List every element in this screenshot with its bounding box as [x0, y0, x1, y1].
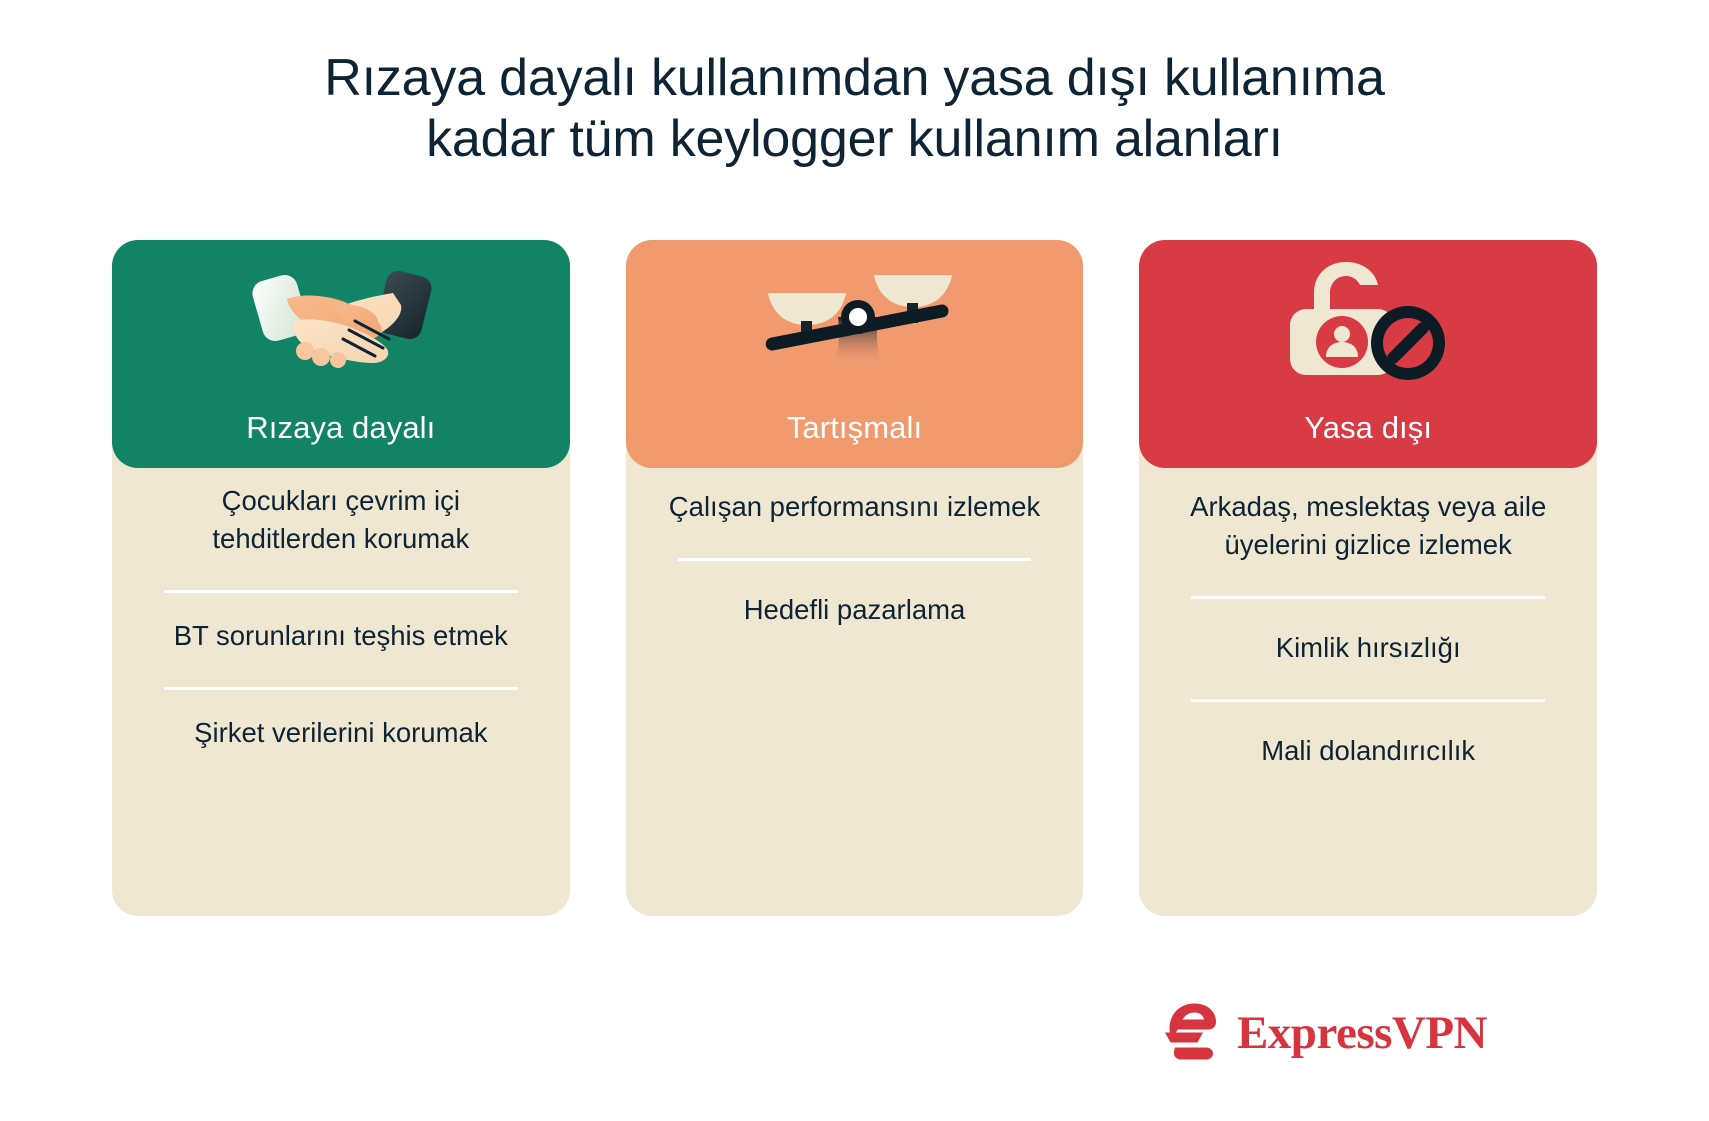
card-consensual-label: Rızaya dayalı: [246, 410, 435, 468]
list-item: BT sorunlarını teşhis etmek: [146, 607, 536, 673]
list-item: Arkadaş, meslektaş veya aile üyelerini g…: [1173, 472, 1563, 582]
card-row: Çocukları çevrim içi tehditlerden koruma…: [112, 240, 1597, 916]
card-consensual: Çocukları çevrim içi tehditlerden koruma…: [112, 240, 570, 916]
card-controversial: Çalışan performansını izlemek Hedefli pa…: [626, 240, 1084, 916]
list-item: Çalışan performansını izlemek: [660, 472, 1050, 544]
list-item: Kimlik hırsızlığı: [1173, 613, 1563, 685]
card-illegal-header: Yasa dışı: [1139, 240, 1597, 468]
list-item: Hedefli pazarlama: [660, 575, 1050, 647]
card-controversial-header: Tartışmalı: [626, 240, 1084, 468]
list-item: Mali dolandırıcılık: [1173, 716, 1563, 788]
unlocked-padlock-prohibited-icon: [1139, 254, 1597, 384]
page-title: Rızaya dayalı kullanımdan yasa dışı kull…: [0, 48, 1709, 171]
infographic-root: Rızaya dayalı kullanımdan yasa dışı kull…: [0, 0, 1709, 1121]
item-divider: [1191, 596, 1545, 599]
expressvpn-logo-text: ExpressVPN: [1237, 1010, 1487, 1057]
card-consensual-items: Çocukları çevrim içi tehditlerden koruma…: [112, 472, 570, 770]
card-controversial-items: Çalışan performansını izlemek Hedefli pa…: [626, 472, 1084, 647]
card-illegal: Arkadaş, meslektaş veya aile üyelerini g…: [1139, 240, 1597, 916]
list-item: Şirket verilerini korumak: [146, 704, 536, 770]
item-divider: [678, 558, 1032, 561]
item-divider: [1191, 699, 1545, 702]
page-title-line-1: Rızaya dayalı kullanımdan yasa dışı kull…: [0, 48, 1709, 109]
item-divider: [164, 687, 518, 690]
expressvpn-logo: ExpressVPN: [1159, 1002, 1487, 1065]
handshake-icon: [112, 254, 570, 384]
expressvpn-e-mark-icon: [1159, 1002, 1221, 1065]
item-divider: [164, 590, 518, 593]
card-controversial-label: Tartışmalı: [787, 410, 922, 468]
page-title-line-2: kadar tüm keylogger kullanım alanları: [0, 109, 1709, 170]
card-consensual-header: Rızaya dayalı: [112, 240, 570, 468]
balance-scale-icon: [626, 254, 1084, 384]
card-illegal-items: Arkadaş, meslektaş veya aile üyelerini g…: [1139, 472, 1597, 788]
list-item: Çocukları çevrim içi tehditlerden koruma…: [146, 472, 536, 576]
card-illegal-label: Yasa dışı: [1304, 410, 1432, 468]
